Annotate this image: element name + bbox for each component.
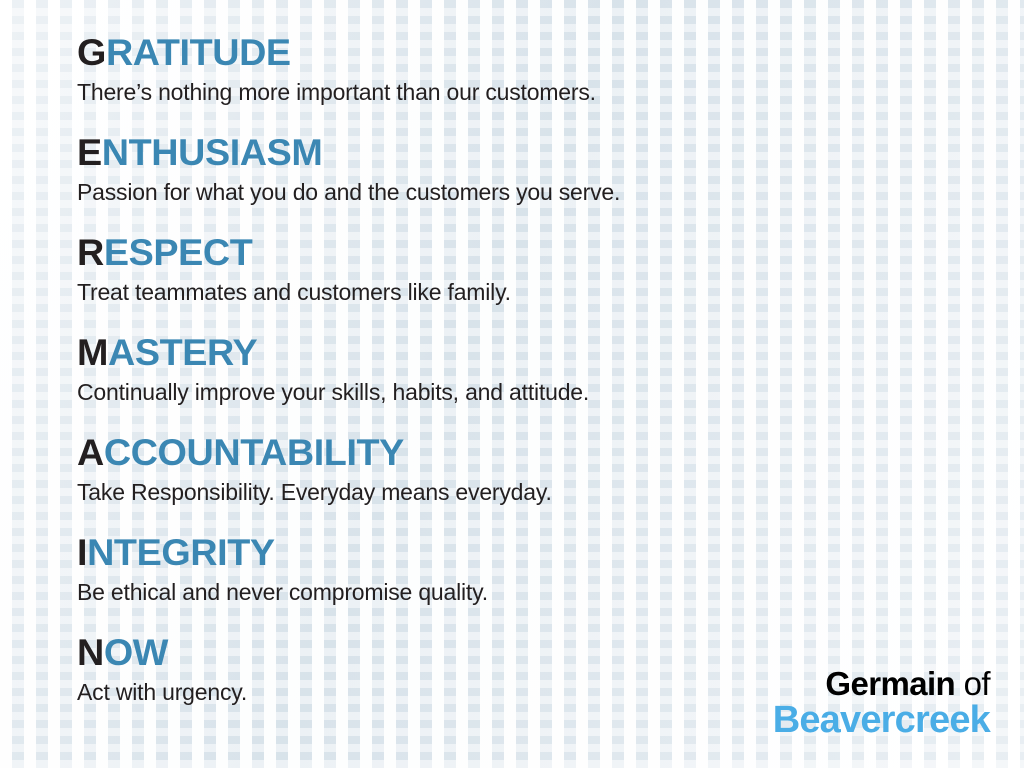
value-heading-remainder: NTEGRITY [87,532,275,573]
value-initial-letter: G [77,32,106,73]
values-poster: GRATITUDE There’s nothing more important… [0,0,1024,768]
value-heading-integrity: INTEGRITY [77,534,1012,571]
value-description-integrity: Be ethical and never compromise quality. [77,580,994,605]
value-description-enthusiasm: Passion for what you do and the customer… [77,180,994,205]
value-block-gratitude: GRATITUDE There’s nothing more important… [77,34,994,134]
value-initial-letter: E [77,132,102,173]
value-heading-remainder: ASTERY [108,332,257,373]
brand-logo: Germain of Beavercreek [773,667,990,740]
value-block-mastery: MASTERY Continually improve your skills,… [77,334,994,434]
brand-name: Germain [825,665,955,702]
value-initial-letter: I [77,532,87,573]
value-heading-remainder: RATITUDE [106,32,291,73]
core-values-list: GRATITUDE There’s nothing more important… [77,34,994,734]
value-description-mastery: Continually improve your skills, habits,… [77,380,994,405]
value-block-respect: RESPECT Treat teammates and customers li… [77,234,994,334]
value-heading-enthusiasm: ENTHUSIASM [77,134,1012,171]
value-block-accountability: ACCOUNTABILITY Take Responsibility. Ever… [77,434,994,534]
value-block-enthusiasm: ENTHUSIASM Passion for what you do and t… [77,134,994,234]
value-description-gratitude: There’s nothing more important than our … [77,80,994,105]
brand-connector: of [964,665,990,702]
value-initial-letter: N [77,632,104,673]
value-heading-gratitude: GRATITUDE [77,34,1012,71]
value-heading-remainder: OW [104,632,168,673]
value-heading-accountability: ACCOUNTABILITY [77,434,1012,471]
value-block-integrity: INTEGRITY Be ethical and never compromis… [77,534,994,634]
value-initial-letter: R [77,232,104,273]
value-description-accountability: Take Responsibility. Everyday means ever… [77,480,994,505]
value-initial-letter: A [77,432,104,473]
value-description-respect: Treat teammates and customers like famil… [77,280,994,305]
value-heading-remainder: ESPECT [104,232,253,273]
value-heading-remainder: NTHUSIASM [102,132,323,173]
brand-location: Beavercreek [773,701,990,740]
value-heading-mastery: MASTERY [77,334,1012,371]
value-heading-respect: RESPECT [77,234,1012,271]
brand-logo-top-line: Germain of [773,667,990,701]
value-heading-remainder: CCOUNTABILITY [104,432,404,473]
value-initial-letter: M [77,332,108,373]
